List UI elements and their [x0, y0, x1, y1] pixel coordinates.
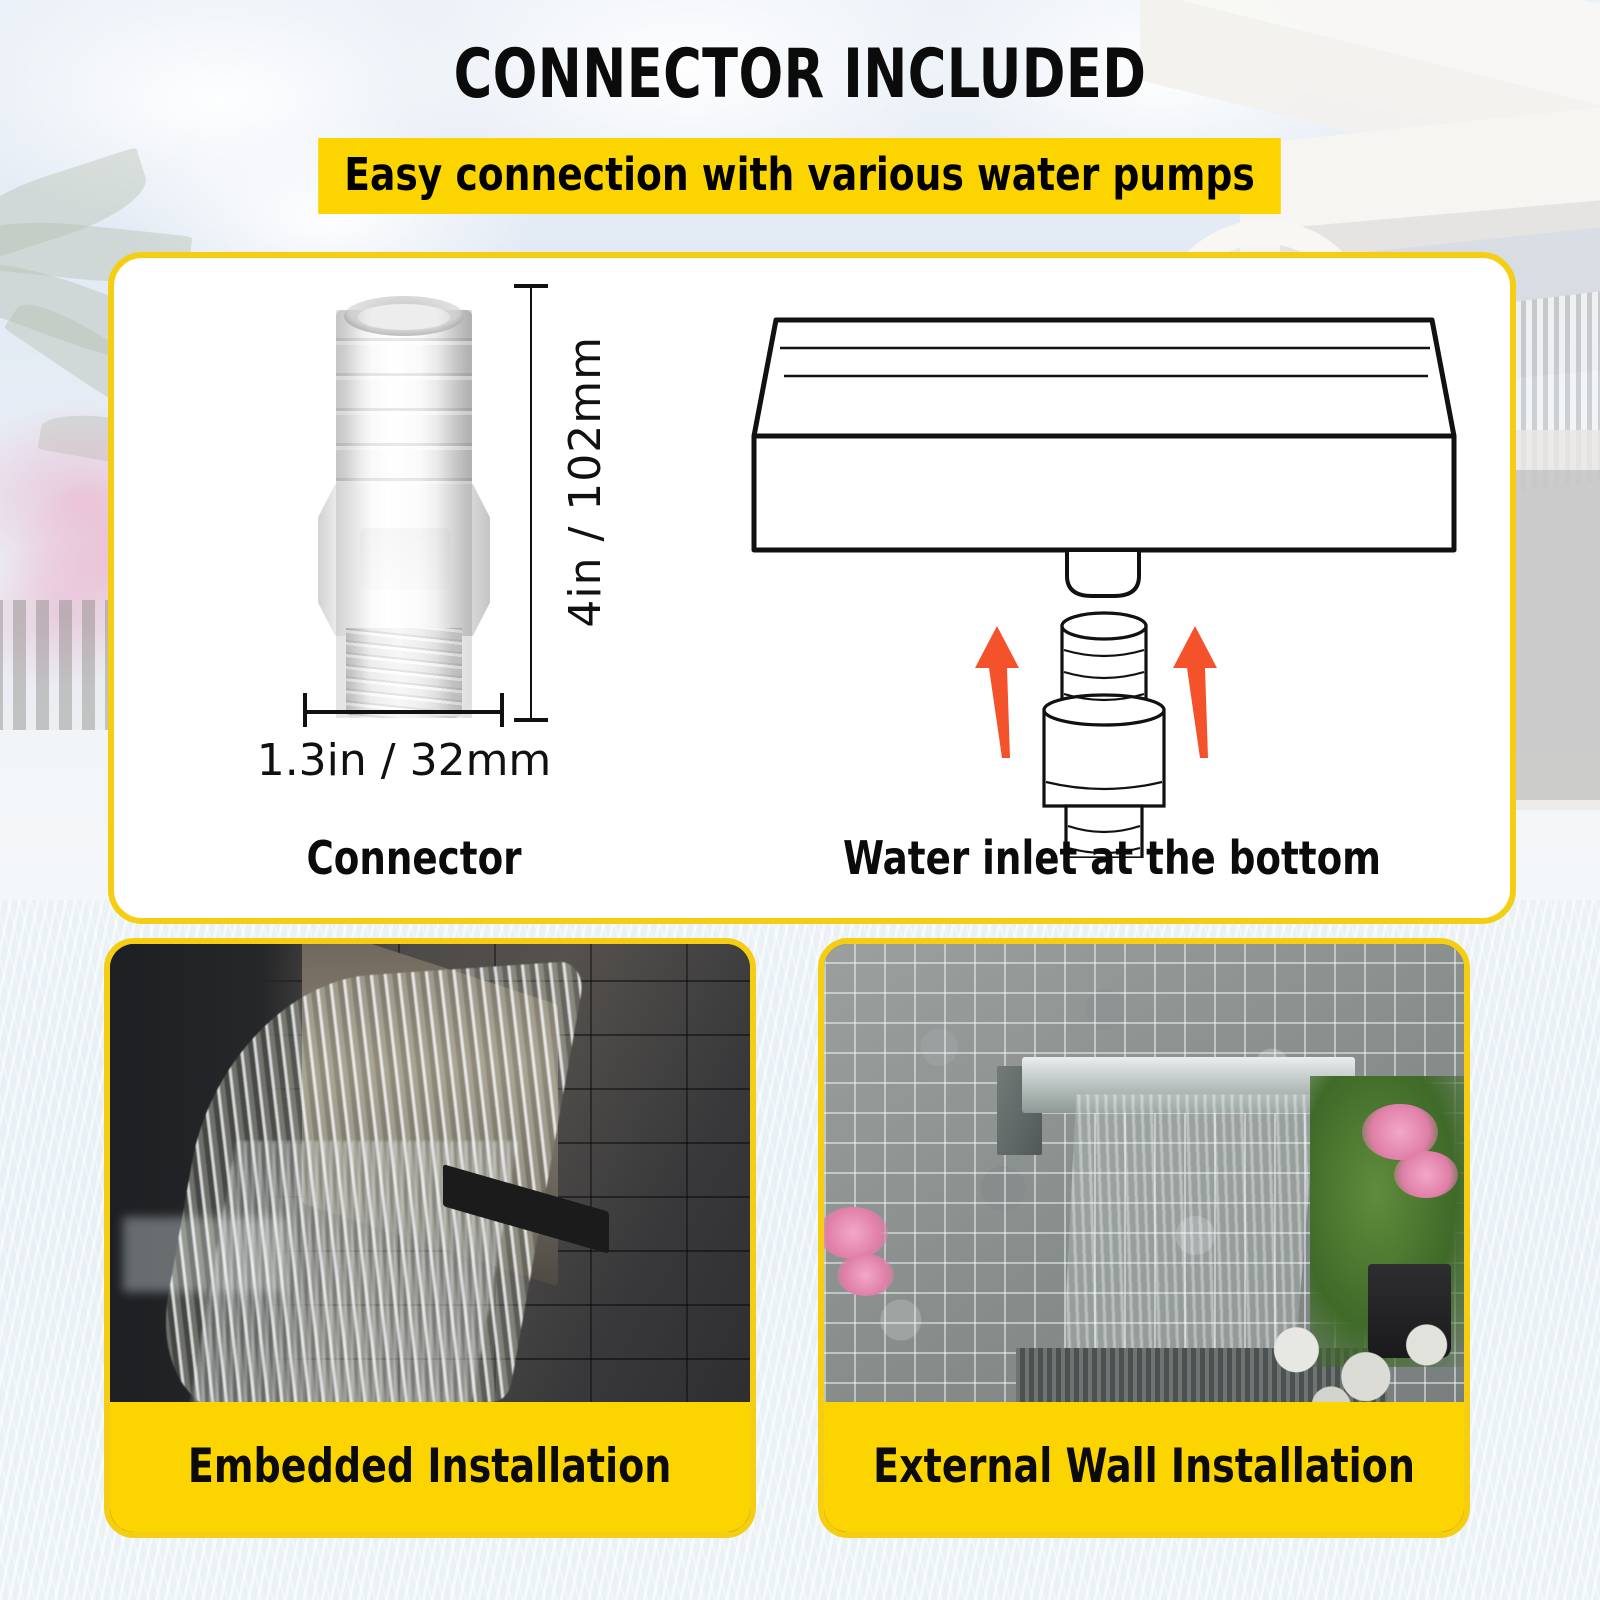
- white-pebbles: [1253, 1301, 1464, 1414]
- connector-upper-rim: [1062, 613, 1146, 639]
- embedded-installation-label: Embedded Installation: [188, 1441, 671, 1493]
- connector-detail-card: 4in / 102mm 1.3in / 32mm: [108, 252, 1516, 924]
- external-wall-installation-panel: External Wall Installation: [818, 938, 1470, 1538]
- height-dimension-label: 4in / 102mm: [562, 336, 610, 628]
- spillway-top-lip: [754, 320, 1454, 436]
- spillway-outlet-stub: [1067, 550, 1139, 596]
- connector-barb-ridges: [336, 310, 472, 492]
- subtitle-banner-wrapper: Easy connection with various water pumps: [0, 138, 1600, 214]
- connector-product-photo: [314, 282, 494, 702]
- spillway-box-front: [754, 436, 1454, 550]
- height-dimension-line: [530, 284, 532, 722]
- flow-arrow-right: [1173, 626, 1217, 758]
- subtitle-banner: Easy connection with various water pumps: [319, 138, 1282, 214]
- embedded-installation-panel: Embedded Installation: [104, 938, 756, 1538]
- width-dimension-line: [304, 710, 504, 714]
- embedded-installation-photo: [110, 944, 750, 1414]
- connector-caption: Connector: [144, 832, 684, 884]
- height-dimension-cap-bottom: [514, 718, 548, 722]
- height-dimension-cap-top: [514, 284, 548, 288]
- pink-flower: [1394, 1151, 1458, 1198]
- spillway-line-drawing: [714, 258, 1510, 858]
- external-wall-installation-caption-bar: External Wall Installation: [824, 1402, 1464, 1532]
- external-wall-installation-label: External Wall Installation: [873, 1441, 1415, 1493]
- flow-arrow-left: [975, 626, 1019, 758]
- connector-threaded-end: [346, 628, 462, 718]
- connector-photo-block: 4in / 102mm 1.3in / 32mm: [114, 258, 714, 858]
- width-dimension-cap-right: [500, 693, 504, 727]
- width-dimension-cap-left: [303, 693, 307, 727]
- water-inlet-caption: Water inlet at the bottom: [754, 832, 1470, 884]
- external-wall-installation-photo: [824, 944, 1464, 1414]
- embedded-installation-caption-bar: Embedded Installation: [110, 1402, 750, 1532]
- connector-bore-inner: [358, 304, 450, 330]
- water-inlet-diagram-block: [714, 258, 1510, 858]
- page-title: CONNECTOR INCLUDED: [112, 38, 1488, 112]
- width-dimension-label: 1.3in / 32mm: [174, 736, 634, 786]
- connector-embossed-marking: [360, 528, 450, 590]
